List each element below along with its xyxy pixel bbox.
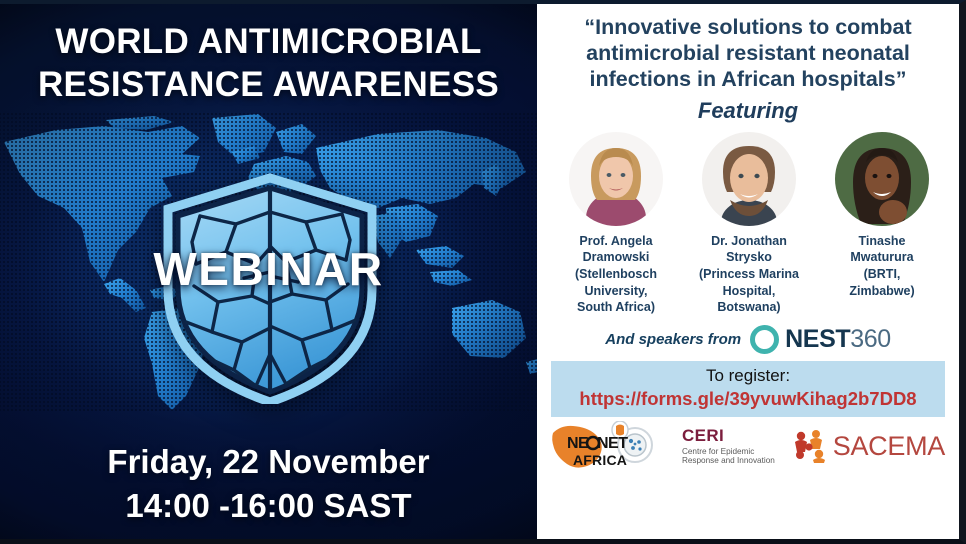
speaker-name: Tinashe Mwaturura (BRTI, Zimbabwe) xyxy=(817,233,947,300)
speaker-card: Prof. Angela Dramowski (Stellenbosch Uni… xyxy=(551,132,681,316)
neonet-africa-logo: NE NET AFRICA xyxy=(547,421,665,471)
nest-word-light: 360 xyxy=(850,325,891,353)
speaker-list: Prof. Angela Dramowski (Stellenbosch Uni… xyxy=(551,132,947,316)
headline-line-2: RESISTANCE AWARENESS xyxy=(0,63,537,106)
speaker-affiliation-line: Zimbabwe) xyxy=(817,283,947,300)
speaker-name-line: Mwaturura xyxy=(817,249,947,266)
ceri-subtitle: Centre for Epidemic Response and Innovat… xyxy=(682,448,775,466)
svg-text:AFRICA: AFRICA xyxy=(573,452,627,468)
nest360-wordmark: NEST360 xyxy=(785,327,891,352)
event-time: 14:00 -16:00 SAST xyxy=(0,484,537,528)
webinar-poster: WORLD ANTIMICROBIAL RESISTANCE AWARENESS xyxy=(0,0,966,544)
speaker-name-line: Strysko xyxy=(684,249,814,266)
avatar xyxy=(569,132,663,226)
talk-title: “Innovative solutions to combat antimicr… xyxy=(543,14,953,93)
ceri-logo: CERI Centre for Epidemic Response and In… xyxy=(682,427,775,465)
talk-title-line-3: infections in African hospitals” xyxy=(543,66,953,92)
speaker-affiliation-line: South Africa) xyxy=(551,299,681,316)
speaker-affiliation-line: (BRTI, xyxy=(817,266,947,283)
nest-ring-icon xyxy=(750,325,779,354)
sacema-wordmark: SACEMA xyxy=(833,431,945,462)
webinar-label: WEBINAR xyxy=(0,242,537,296)
featuring-label: Featuring xyxy=(537,98,959,124)
right-panel: “Innovative solutions to combat antimicr… xyxy=(537,4,959,544)
speaker-name-line: Dramowski xyxy=(551,249,681,266)
ceri-title: CERI xyxy=(682,427,775,445)
speaker-name-line: Dr. Jonathan xyxy=(684,233,814,250)
register-label: To register: xyxy=(557,366,939,386)
ceri-subtitle-line: Response and Innovation xyxy=(682,457,775,466)
speaker-name: Dr. Jonathan Strysko (Princess Marina Ho… xyxy=(684,233,814,316)
nest360-credit: And speakers from NEST360 xyxy=(537,325,959,354)
talk-title-line-2: antimicrobial resistant neonatal xyxy=(543,40,953,66)
speaker-affiliation-line: University, xyxy=(551,283,681,300)
svg-text:NET: NET xyxy=(597,435,628,452)
speaker-affiliation-line: Hospital, xyxy=(684,283,814,300)
registration-box: To register: https://forms.gle/39yvuwKih… xyxy=(551,361,945,418)
talk-title-line-1: “Innovative solutions to combat xyxy=(543,14,953,40)
speaker-affiliation-line: (Princess Marina xyxy=(684,266,814,283)
speaker-affiliation-line: Botswana) xyxy=(684,299,814,316)
event-datetime: Friday, 22 November 14:00 -16:00 SAST xyxy=(0,440,537,528)
avatar xyxy=(702,132,796,226)
speaker-card: Dr. Jonathan Strysko (Princess Marina Ho… xyxy=(684,132,814,316)
speaker-card: Tinashe Mwaturura (BRTI, Zimbabwe) xyxy=(817,132,947,316)
speaker-name-line: Tinashe xyxy=(817,233,947,250)
nest360-label: And speakers from xyxy=(605,331,741,348)
nest-word-bold: NEST xyxy=(785,325,850,353)
event-date: Friday, 22 November xyxy=(0,440,537,484)
partner-logos: NE NET AFRICA CERI Centre for Epidemic R… xyxy=(547,421,945,471)
left-panel: WORLD ANTIMICROBIAL RESISTANCE AWARENESS xyxy=(0,4,537,544)
register-url[interactable]: https://forms.gle/39yvuwKihag2b7DD8 xyxy=(557,388,939,410)
nest360-logo: NEST360 xyxy=(750,325,891,354)
headline-line-1: WORLD ANTIMICROBIAL xyxy=(55,22,481,61)
speaker-name-line: Prof. Angela xyxy=(551,233,681,250)
speaker-affiliation-line: (Stellenbosch xyxy=(551,266,681,283)
page-title: WORLD ANTIMICROBIAL RESISTANCE AWARENESS xyxy=(0,20,537,107)
sacema-logo: SACEMA xyxy=(792,429,945,463)
speaker-name: Prof. Angela Dramowski (Stellenbosch Uni… xyxy=(551,233,681,316)
avatar xyxy=(835,132,929,226)
